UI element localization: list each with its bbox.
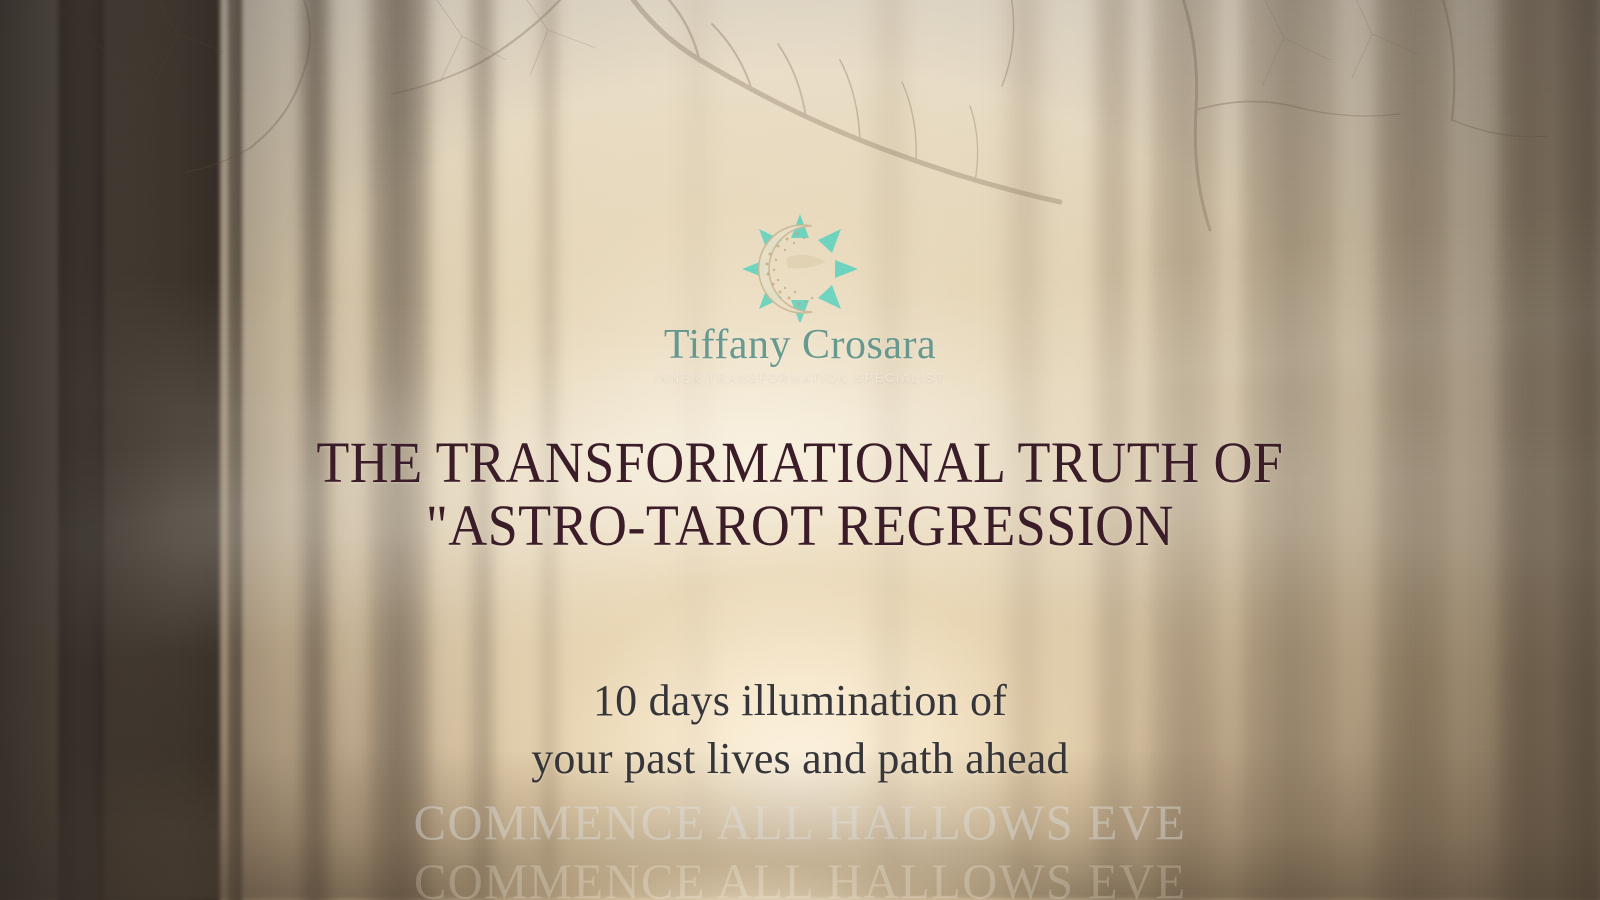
promo-poster: Tiffany Crosara INNER TRANSFORMATION SPE… (0, 0, 1600, 900)
brand-tagline: INNER TRANSFORMATION SPECIALIST (654, 373, 946, 385)
headline-line-1: THE TRANSFORMATIONAL TRUTH OF (317, 432, 1284, 495)
crescent-moon-sunburst-icon (740, 212, 860, 322)
start-date-banner: COMMENCE ALL HALLOWS EVE (414, 852, 1187, 900)
brand-name: Tiffany Crosara (664, 324, 936, 366)
brand-logo-block: Tiffany Crosara INNER TRANSFORMATION SPE… (654, 212, 946, 385)
subtitle: 10 days illumination of your past lives … (531, 672, 1069, 788)
headline-line-2: "ASTRO-TAROT REGRESSION (317, 495, 1284, 558)
poster-content: Tiffany Crosara INNER TRANSFORMATION SPE… (0, 0, 1600, 900)
page-title: THE TRANSFORMATIONAL TRUTH OF "ASTRO-TAR… (317, 432, 1284, 557)
subtitle-line-1: 10 days illumination of (531, 672, 1069, 730)
subtitle-line-2: your past lives and path ahead (531, 730, 1069, 788)
